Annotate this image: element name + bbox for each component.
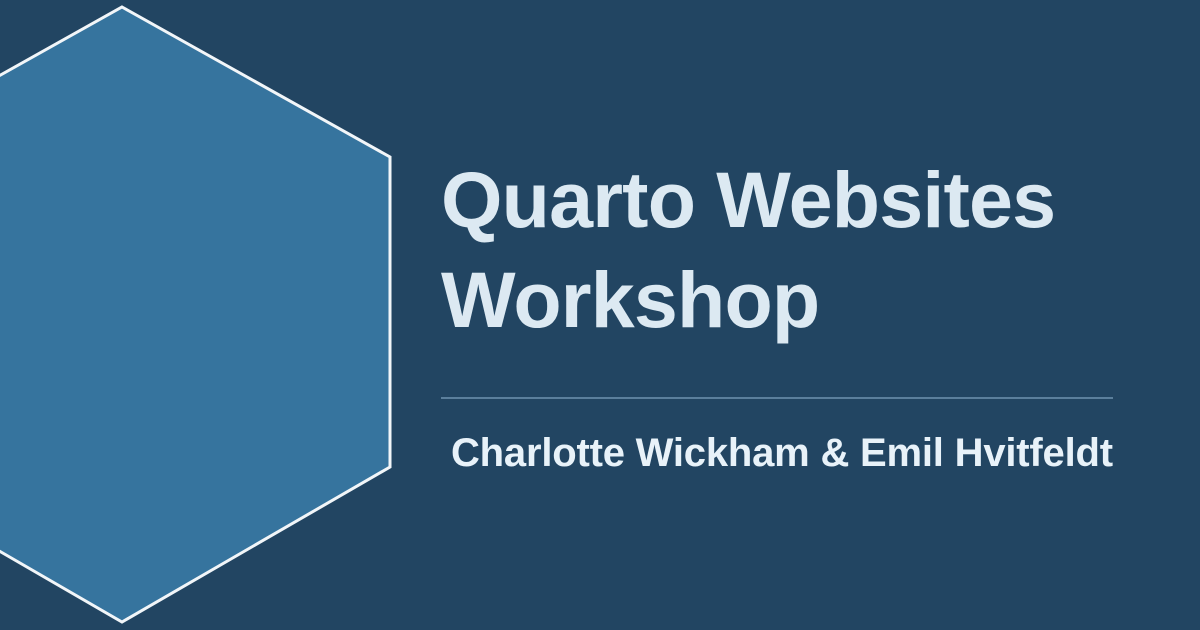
title-slide: Quarto Websites Workshop Charlotte Wickh… xyxy=(0,0,1200,630)
title-divider xyxy=(441,397,1113,399)
page-title: Quarto Websites Workshop xyxy=(441,150,1141,350)
slide-subtitle-authors: Charlotte Wickham & Emil Hvitfeldt xyxy=(451,428,1151,478)
slide-content: Quarto Websites Workshop Charlotte Wickh… xyxy=(441,0,1121,630)
hexagon-shape xyxy=(0,7,390,622)
